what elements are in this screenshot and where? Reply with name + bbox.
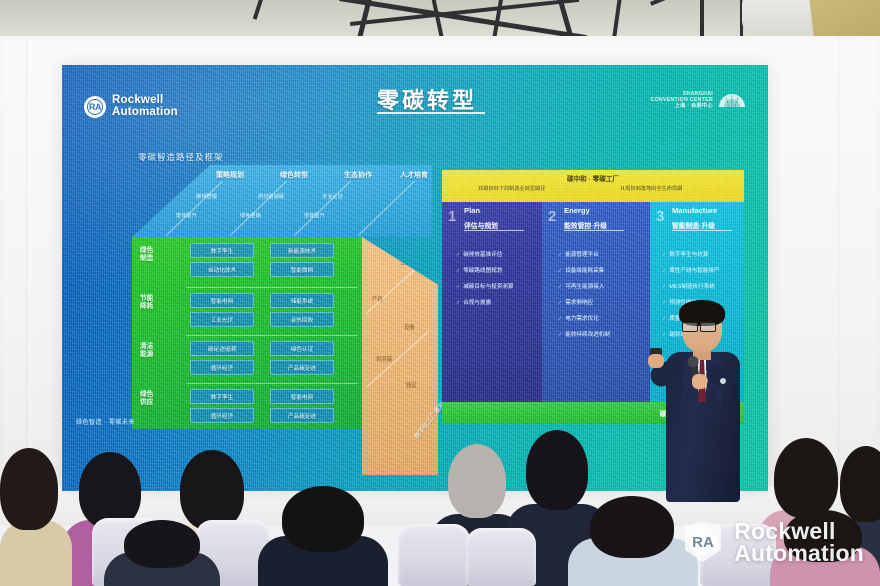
watermark-line-1: Rockwell (734, 520, 864, 542)
attendee (258, 486, 388, 586)
capability-chip: 智能电网 (270, 389, 334, 404)
iso-guide-line (358, 181, 415, 236)
step-title-en: Energy (564, 206, 590, 215)
row-label-line: 降耗 (140, 303, 153, 311)
step-underline (672, 230, 732, 231)
diagram-foot-note: 绿色智造 · 零碳未来 (76, 417, 135, 426)
row-label-line: 供应 (140, 399, 153, 407)
capability-chip: 绿色认证 (270, 341, 334, 356)
top-col-header: 绿色转型 (280, 170, 308, 180)
capability-chip: 余热回收 (270, 312, 334, 327)
row-label-line: 节能 (140, 295, 153, 303)
step-bullet: 需求侧响应 (558, 298, 593, 306)
banner-subtitle-left: 双碳目标下的制造业转型路径 (478, 185, 545, 192)
attendee (568, 496, 698, 586)
eyeglasses-icon (682, 322, 698, 332)
step-bullet: 碳排放基准评估 (456, 250, 502, 258)
attendee (104, 520, 220, 586)
step-number: 3 (656, 208, 664, 225)
step-title-en: Manufacture (672, 206, 717, 215)
step-title-cn: 能效管控·升级 (564, 220, 607, 230)
row-label-line: 能源 (140, 351, 153, 359)
iso-guide-line (230, 181, 287, 236)
ventilation-duct (742, 0, 816, 38)
capability-chip: 智能电网 (190, 293, 254, 308)
iso-guide-line (366, 257, 429, 314)
capability-chip: 产品碳足迹 (270, 360, 334, 375)
top-col-sub: 路径规划 (134, 209, 155, 216)
truss-beam (253, 0, 266, 20)
capability-chip: 循环经济 (190, 360, 254, 375)
row-label-line: 绿色 (140, 391, 153, 399)
banner-subtitle-right: 从规划到落地的全生命周期 (620, 185, 682, 192)
row-label: 绿色 制造 (140, 247, 153, 263)
step-bullet: MES制造执行系统 (662, 282, 715, 290)
row-label-line: 清洁 (140, 343, 153, 351)
roadmap-column-plan: 1 Plan 评估与规划 碳排放基准评估 零碳路线图规划 减碳目标与投资测算 合… (442, 202, 542, 402)
iso-guide-line (166, 181, 223, 236)
diagram-left-face: 绿色 制造 节能 降耗 清洁 能源 绿色 供应 数字孪生 (132, 237, 362, 429)
attendee-head (448, 444, 506, 518)
presenter-right-hand (692, 374, 707, 389)
step-bullet: 设备级能耗采集 (558, 266, 604, 274)
step-bullet: 可再生能源接入 (558, 282, 604, 290)
step-bullet: 零碳路线图规划 (456, 266, 502, 274)
top-col-sub: 目标设定 (142, 191, 163, 198)
step-title-cn: 评估与规划 (464, 220, 498, 230)
capability-chip: 新能源技术 (270, 243, 334, 258)
step-number: 2 (548, 208, 556, 225)
roadmap-banner: 碳中和 · 零碳工厂 双碳目标下的制造业转型路径 从规划到落地的全生命周期 (442, 170, 744, 202)
side-label: 园区 (406, 381, 417, 389)
step-bullet: 电力需求优化 (558, 314, 599, 322)
step-bullet: 柔性产线与智能排产 (662, 266, 720, 274)
attendee-head (124, 520, 200, 568)
row-divider (186, 287, 358, 288)
capability-chip: 数字孪生 (190, 389, 254, 404)
presentation-photo: RA Rockwell Automation 零碳转型 SHANGHAI CON… (0, 0, 880, 586)
step-number: 1 (448, 208, 456, 225)
presenter (648, 300, 756, 505)
capability-chip: 数字孪生 (190, 243, 254, 258)
audience-chair (466, 528, 536, 586)
side-label: 供应链 (376, 355, 392, 363)
row-divider (186, 383, 358, 384)
attendee-head (282, 486, 364, 552)
step-underline (464, 230, 524, 231)
wall-seam (26, 36, 27, 496)
rockwell-watermark: RA Rockwell Automation (681, 520, 864, 564)
rockwell-mark-icon: RA (681, 520, 725, 564)
row-label-line: 绿色 (140, 247, 153, 255)
capability-chip: 循环经济 (190, 408, 254, 423)
diagram-top-face: 策略规划 绿色转型 生态协作 人才培育 目标设定 路径规划 碳排管理 能效提升 … (132, 165, 432, 237)
top-col-header: 人才培育 (400, 170, 428, 180)
step-bullet: 数字孪生与仿真 (662, 250, 708, 258)
capability-chip: 碳足迹追溯 (190, 341, 254, 356)
attendee (0, 448, 72, 586)
attendee-head (0, 448, 58, 530)
watermark-line-2: Automation (734, 542, 864, 564)
top-col-header: 生态协作 (344, 170, 372, 180)
iso-guide-line (294, 181, 351, 236)
top-col-header: 策略规划 (216, 170, 244, 180)
row-label: 节能 降耗 (140, 295, 153, 311)
watermark-wordmark: Rockwell Automation (734, 520, 864, 564)
banner-title: 碳中和 · 零碳工厂 (567, 173, 619, 183)
capability-chip: 储能系统 (270, 293, 334, 308)
row-label-line: 制造 (140, 255, 153, 263)
svg-text:RA: RA (692, 534, 714, 551)
attendee-head (79, 452, 141, 528)
row-divider (186, 335, 358, 336)
wall-seam (838, 36, 839, 496)
row-label: 清洁 能源 (140, 343, 153, 359)
attendee-shoulders (0, 520, 72, 586)
capability-chip: 工业光伏 (190, 312, 254, 327)
row-label: 绿色 供应 (140, 391, 153, 407)
presenter-left-hand (648, 354, 664, 368)
step-underline (564, 230, 624, 231)
eyeglasses-icon (700, 322, 716, 332)
audience-chair (398, 524, 470, 586)
capability-chip: 自动化技术 (190, 262, 254, 277)
capability-chip: 产品碳足迹 (270, 408, 334, 423)
diagram-side-face: 工厂 产线 设备 供应链 园区 (362, 237, 438, 475)
step-bullet: 合规与披露 (456, 298, 491, 306)
step-bullet: 能源管理平台 (558, 250, 599, 258)
roadmap-column-energy: 2 Energy 能效管控·升级 能源管理平台 设备级能耗采集 可再生能源接入 … (542, 202, 650, 402)
step-bullet: 减碳目标与投资测算 (456, 282, 514, 290)
step-bullet: 能效持续改进机制 (558, 330, 610, 338)
side-label: 设备 (404, 323, 415, 331)
capability-chip: 智能微网 (270, 262, 334, 277)
attendee-head (774, 438, 838, 518)
eyeglasses-bridge (696, 325, 701, 326)
attendee-head (590, 496, 674, 558)
lapel-pin (720, 378, 726, 384)
side-label: 工厂 (400, 259, 411, 267)
step-title-cn: 智能制造·升级 (672, 220, 715, 230)
diagram-heading: 零碳智造路径及框架 (138, 151, 224, 163)
attendee-head (180, 450, 244, 530)
step-title-en: Plan (464, 206, 480, 215)
